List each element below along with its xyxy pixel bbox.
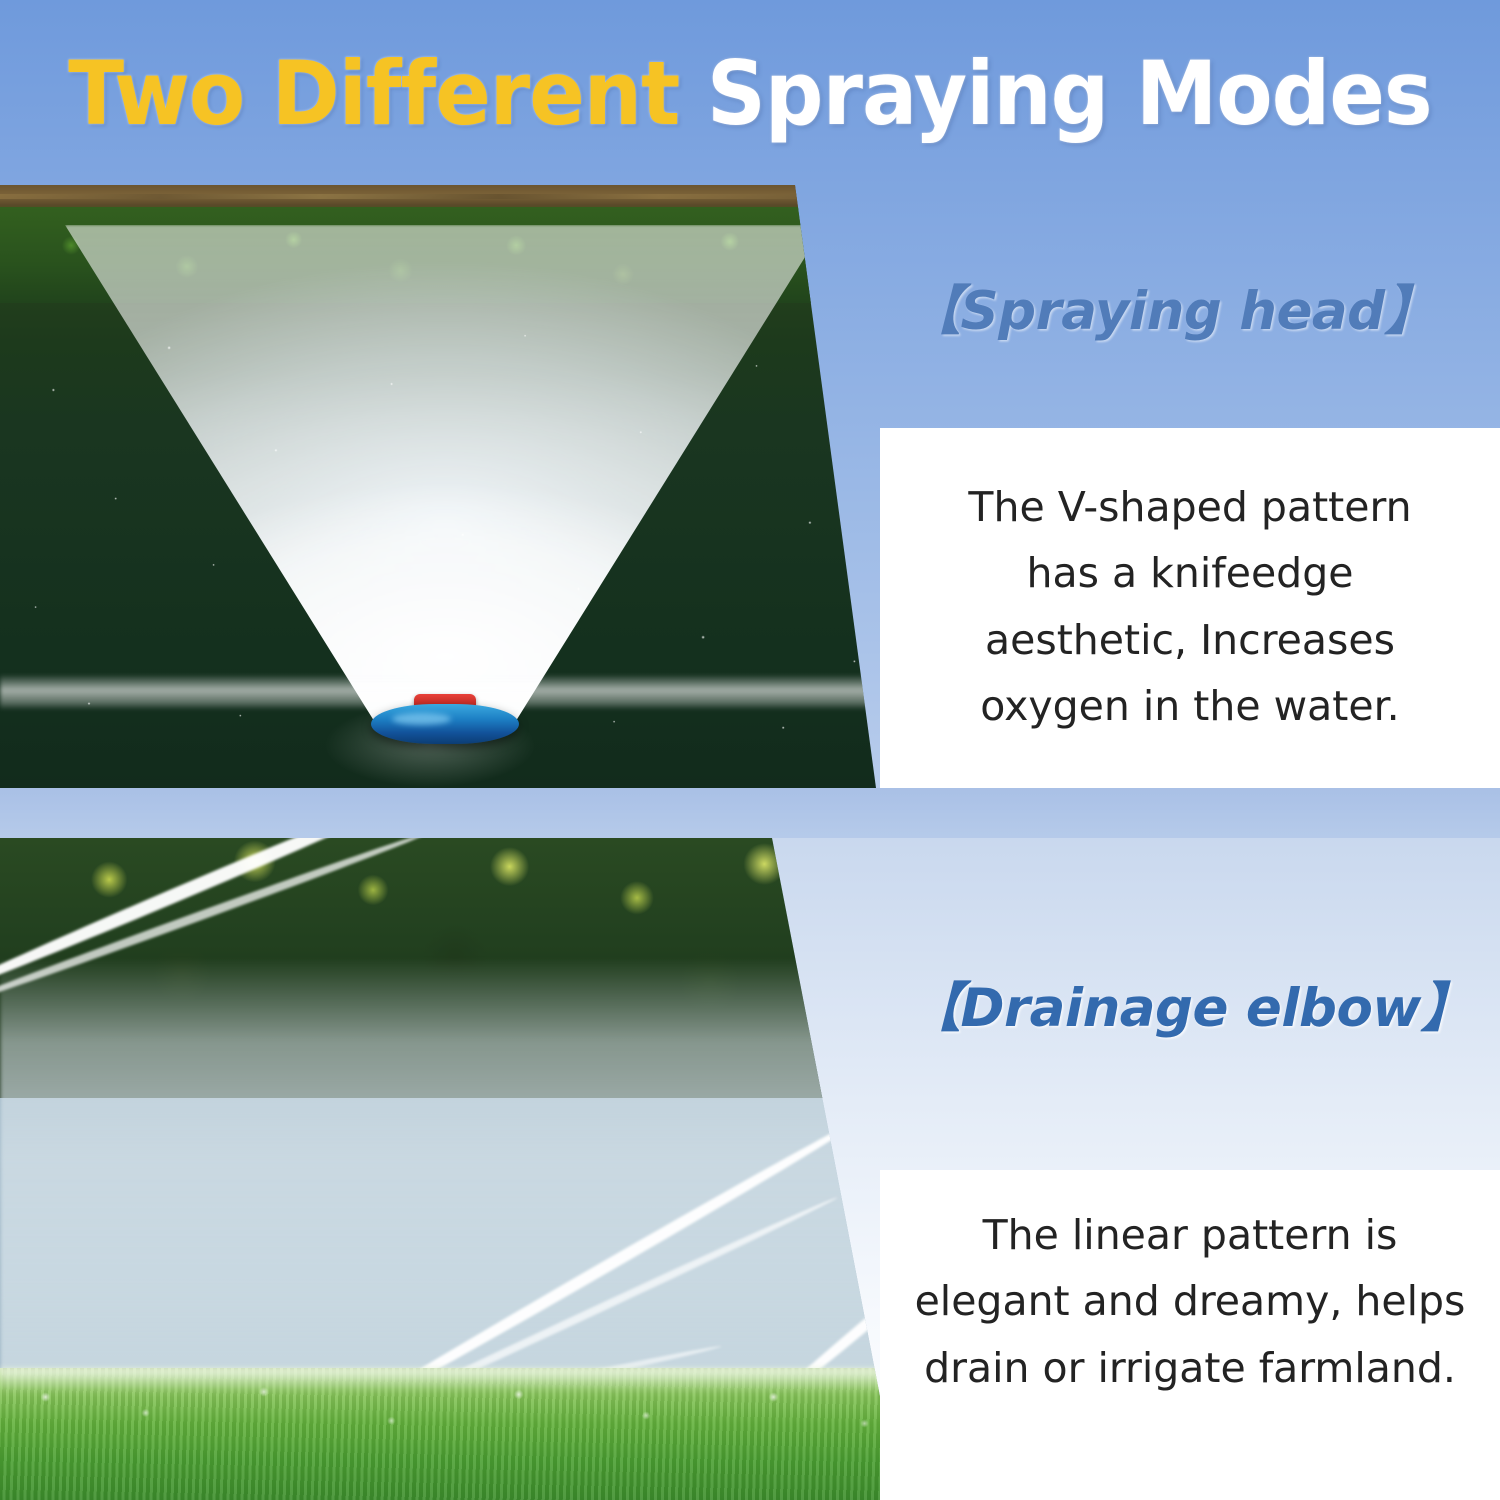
page-title: Two Different Spraying Modes [0,38,1500,148]
heading-band-spraying-head: 【Spraying head】 [880,185,1500,428]
section-body-1: The V-shaped pattern has a knifeedge aes… [930,474,1450,740]
promo-graphic: Two Different Spraying Modes 【Spraying h… [0,0,1500,1500]
photo-spraying-head [0,185,890,788]
section-body-2: The linear pattern is elegant and dreamy… [910,1202,1470,1401]
section-heading-1: 【Spraying head】 [908,269,1437,345]
background-divider-band [0,788,1500,840]
body-panel-drainage-elbow: The linear pattern is elegant and dreamy… [880,1170,1500,1500]
lawn-grass [0,1368,910,1500]
title-highlight: Two Different [68,42,707,145]
title-rest: Spraying Modes [707,42,1432,145]
blue-floating-pump [371,704,519,744]
heading-band-drainage-elbow: 【Drainage elbow】 [880,838,1500,1170]
title-text: Two Different Spraying Modes [68,42,1431,145]
section-heading-2: 【Drainage elbow】 [908,966,1473,1042]
photo-drainage-elbow [0,838,910,1500]
body-panel-spraying-head: The V-shaped pattern has a knifeedge aes… [880,428,1500,788]
